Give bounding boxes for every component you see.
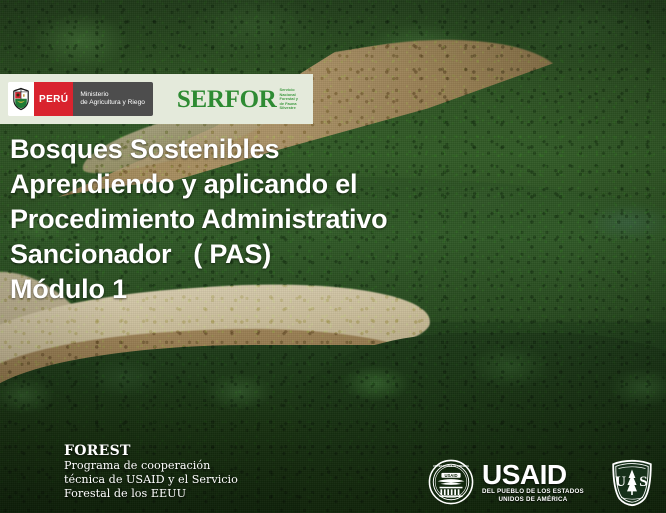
peru-coat-of-arms-icon bbox=[8, 82, 34, 116]
usfs-letter-s: S bbox=[639, 474, 647, 490]
title-line-5: Módulo 1 bbox=[10, 272, 650, 307]
svg-text:UNITED STATES OF AMERICA: UNITED STATES OF AMERICA bbox=[433, 465, 469, 468]
peru-ministry-name: Ministerio de Agricultura y Riego bbox=[73, 82, 153, 116]
ministry-line-2: de Agricultura y Riego bbox=[80, 99, 145, 107]
peru-ministry-logo: PERÚ Ministerio de Agricultura y Riego bbox=[8, 82, 153, 116]
forest-program-description: Programa de cooperación técnica de USAID… bbox=[64, 459, 238, 501]
title-line-4: Sancionador ( PAS) bbox=[10, 237, 650, 272]
peru-country-label: PERÚ bbox=[34, 82, 73, 116]
ministry-line-1: Ministerio bbox=[80, 91, 145, 99]
title-line-3: Procedimiento Administrativo bbox=[10, 202, 650, 237]
presentation-slide: PERÚ Ministerio de Agricultura y Riego S… bbox=[0, 0, 666, 513]
forest-program-title: FOREST bbox=[64, 443, 238, 459]
slide-title: Bosques Sostenibles Aprendiendo y aplica… bbox=[10, 132, 650, 307]
serfor-logo: SERFOR Servicio Nacional Forestal y de F… bbox=[177, 87, 298, 112]
serfor-subtitle-line-5: Silvestre bbox=[280, 106, 298, 111]
forest-program-credit: FOREST Programa de cooperación técnica d… bbox=[64, 443, 238, 501]
usaid-logo: USAID UNITED STATES OF AMERICA USAID DEL… bbox=[428, 458, 584, 506]
svg-text:USAID: USAID bbox=[444, 473, 457, 478]
us-forest-service-shield-icon: U S bbox=[609, 459, 655, 507]
usfs-letter-u: U bbox=[615, 474, 626, 490]
usaid-seal-icon: USAID UNITED STATES OF AMERICA bbox=[428, 459, 474, 505]
logo-band: PERÚ Ministerio de Agricultura y Riego S… bbox=[0, 74, 313, 124]
serfor-wordmark: SERFOR bbox=[177, 87, 277, 112]
usaid-wordmark: USAID bbox=[482, 461, 584, 488]
usaid-wordmark-block: USAID DEL PUEBLO DE LOS ESTADOS UNIDOS D… bbox=[482, 461, 584, 503]
title-line-1: Bosques Sostenibles bbox=[10, 132, 650, 167]
title-line-2: Aprendiendo y aplicando el bbox=[10, 167, 650, 202]
usaid-tagline: DEL PUEBLO DE LOS ESTADOS UNIDOS DE AMÉR… bbox=[482, 488, 584, 503]
serfor-subtitle: Servicio Nacional Forestal y de Fauna Si… bbox=[280, 87, 298, 111]
